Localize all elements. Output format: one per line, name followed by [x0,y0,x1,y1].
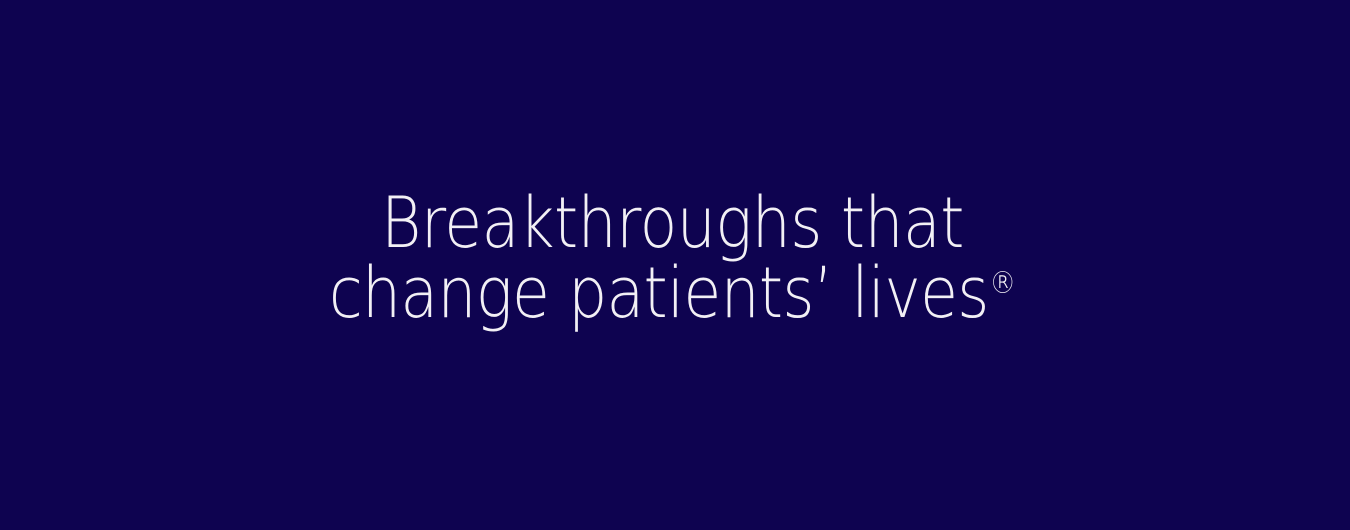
tagline-line-one: Breakthroughs that [328,188,1015,258]
registered-trademark-icon: ® [988,266,1015,301]
tagline-line-two-text: change patients’ lives [328,252,988,334]
tagline-slide: Breakthroughs that change patients’ live… [0,0,1350,530]
brand-tagline: Breakthroughs that change patients’ live… [282,188,1069,328]
tagline-line-two: change patients’ lives® [328,258,1015,328]
